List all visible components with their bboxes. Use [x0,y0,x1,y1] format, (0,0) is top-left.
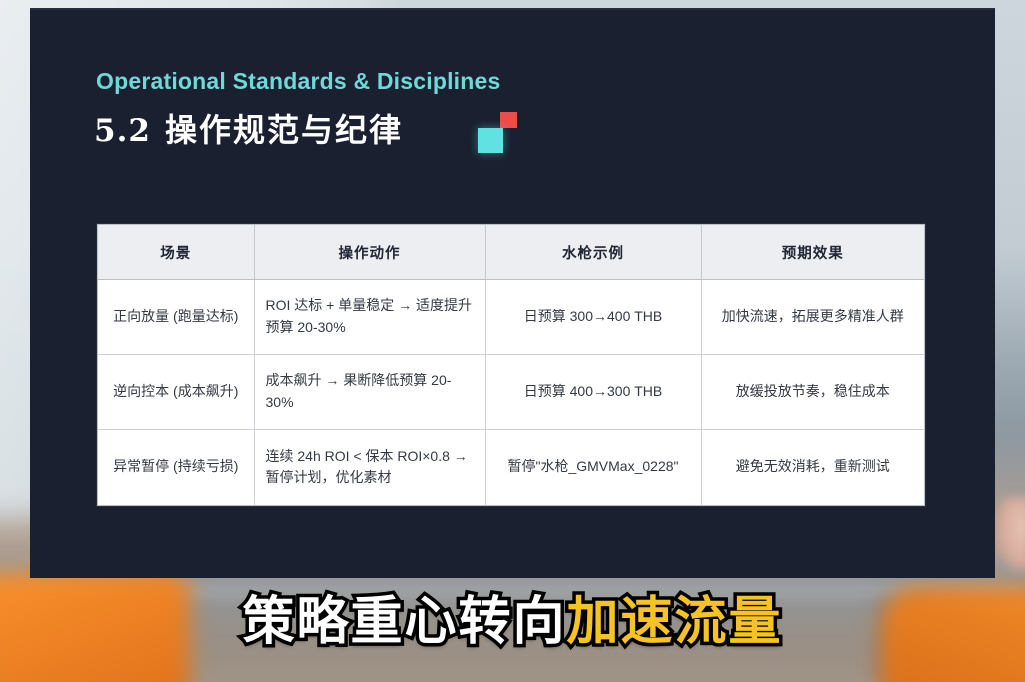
cell-example: 日预算 300→400 THB [485,280,701,355]
decor-squares [470,112,530,154]
column-header-action: 操作动作 [254,225,485,280]
cell-effect: 放缓投放节奏，稳住成本 [701,355,924,430]
subtitle-text-plain: 策略重心转向 [242,592,566,652]
cell-example: 日预算 400→300 THB [485,355,701,430]
cell-example: 暂停"水枪_GMVMax_0228" [485,430,701,505]
table-row: 异常暂停 (持续亏损) 连续 24h ROI < 保本 ROI×0.8 → 暂停… [98,430,924,505]
subtitle-text-highlight: 加速流量 [567,592,783,652]
cell-action: 连续 24h ROI < 保本 ROI×0.8 → 暂停计划，优化素材 [254,430,485,505]
section-number: 5.2 [94,113,151,149]
column-header-effect: 预期效果 [701,225,924,280]
cell-scene: 逆向控本 (成本飙升) [98,355,254,430]
video-subtitle: 策略重心转向加速流量 [0,596,1025,648]
section-title-zh: 操作规范与纪律 [165,105,403,151]
cell-action: ROI 达标 + 单量稳定 → 适度提升预算 20-30% [254,280,485,355]
red-square-icon [500,112,517,128]
cell-action: 成本飙升 → 果断降低预算 20-30% [254,355,485,430]
slide-title: 5.2 操作规范与纪律 [94,105,403,151]
cell-scene: 正向放量 (跑量达标) [98,280,254,355]
table-header-row: 场景 操作动作 水枪示例 预期效果 [98,225,924,280]
table-row: 正向放量 (跑量达标) ROI 达标 + 单量稳定 → 适度提升预算 20-30… [98,280,924,355]
table-row: 逆向控本 (成本飙升) 成本飙升 → 果断降低预算 20-30% 日预算 400… [98,355,924,430]
cyan-square-icon [478,128,503,153]
cell-effect: 加快流速，拓展更多精准人群 [701,280,924,355]
cell-effect: 避免无效消耗，重新测试 [701,430,924,505]
presentation-slide: Operational Standards & Disciplines 5.2 … [30,8,995,578]
cell-scene: 异常暂停 (持续亏损) [98,430,254,505]
column-header-example: 水枪示例 [485,225,701,280]
slide-top-edge [30,8,995,10]
operational-standards-table: 场景 操作动作 水枪示例 预期效果 正向放量 (跑量达标) ROI 达标 + 单… [97,224,925,506]
screen-recording-frame: Operational Standards & Disciplines 5.2 … [0,0,1025,682]
column-header-scene: 场景 [98,225,254,280]
slide-kicker: Operational Standards & Disciplines [96,68,501,95]
person-hand-blur [995,498,1025,572]
